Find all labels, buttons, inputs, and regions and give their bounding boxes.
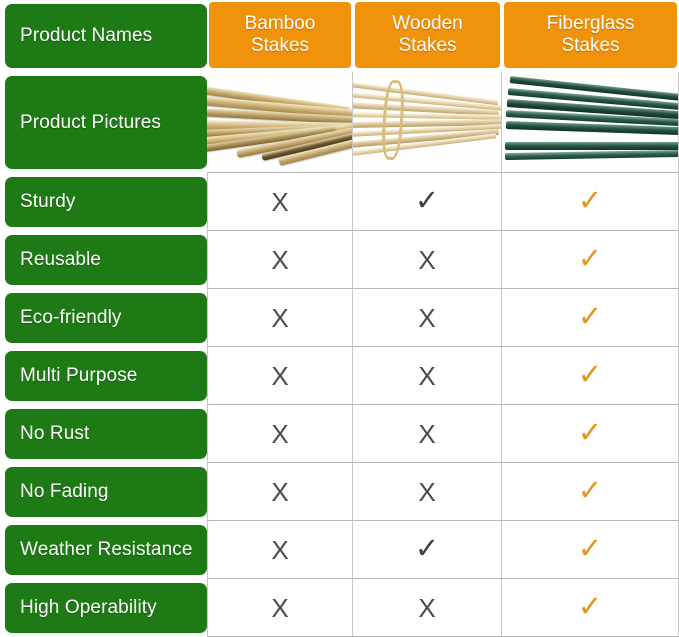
- column-header-wooden-line1: Wooden: [392, 13, 462, 35]
- mark-cell-wooden: ✓: [353, 521, 502, 579]
- mark-cell-bamboo: X: [207, 289, 353, 347]
- cross-icon: X: [271, 537, 288, 563]
- table-grid: Product Names Bamboo Stakes Wooden Stake…: [0, 0, 679, 633]
- check-icon: ✓: [415, 535, 439, 564]
- mark-cell-fiberglass: ✓: [502, 231, 679, 289]
- mark-cell-bamboo: X: [207, 347, 353, 405]
- bamboo-stakes-image: [207, 72, 352, 172]
- feature-row-label-cell: Reusable: [0, 231, 207, 289]
- check-icon: ✓: [415, 187, 439, 216]
- picture-row-label-cell: Product Pictures: [0, 72, 207, 173]
- column-header-fiberglass-pill: Fiberglass Stakes: [504, 2, 677, 68]
- feature-row-label-cell: Sturdy: [0, 173, 207, 231]
- check-icon: ✓: [578, 419, 602, 448]
- mark-cell-fiberglass: ✓: [502, 289, 679, 347]
- feature-row-label: No Rust: [5, 409, 207, 459]
- column-header-bamboo-line2: Stakes: [251, 35, 309, 57]
- column-header-bamboo: Bamboo Stakes: [207, 0, 353, 72]
- mark-cell-bamboo: X: [207, 231, 353, 289]
- check-icon: ✓: [578, 187, 602, 216]
- header-row-label: Product Names: [5, 4, 207, 68]
- mark-cell-fiberglass: ✓: [502, 405, 679, 463]
- cross-icon: X: [271, 363, 288, 389]
- fiberglass-stakes-image: [502, 72, 678, 172]
- cross-icon: X: [418, 421, 435, 447]
- feature-row-label: Reusable: [5, 235, 207, 285]
- cross-icon: X: [418, 247, 435, 273]
- mark-cell-fiberglass: ✓: [502, 521, 679, 579]
- cross-icon: X: [418, 363, 435, 389]
- mark-cell-bamboo: X: [207, 463, 353, 521]
- mark-cell-wooden: X: [353, 289, 502, 347]
- check-icon: ✓: [578, 245, 602, 274]
- column-header-bamboo-line1: Bamboo: [245, 13, 316, 35]
- column-header-wooden-line2: Stakes: [398, 35, 456, 57]
- mark-cell-bamboo: X: [207, 173, 353, 231]
- cross-icon: X: [271, 421, 288, 447]
- feature-row-label: Weather Resistance: [5, 525, 207, 575]
- mark-cell-bamboo: X: [207, 579, 353, 637]
- feature-row-label-cell: Eco-friendly: [0, 289, 207, 347]
- mark-cell-bamboo: X: [207, 405, 353, 463]
- cross-icon: X: [418, 305, 435, 331]
- column-header-bamboo-pill: Bamboo Stakes: [209, 2, 351, 68]
- feature-row-label: Eco-friendly: [5, 293, 207, 343]
- picture-row-label: Product Pictures: [5, 76, 207, 169]
- feature-row-label-cell: Weather Resistance: [0, 521, 207, 579]
- mark-cell-fiberglass: ✓: [502, 579, 679, 637]
- mark-cell-bamboo: X: [207, 521, 353, 579]
- mark-cell-wooden: X: [353, 579, 502, 637]
- cross-icon: X: [271, 247, 288, 273]
- check-icon: ✓: [578, 477, 602, 506]
- feature-row-label-cell: No Fading: [0, 463, 207, 521]
- mark-cell-wooden: ✓: [353, 173, 502, 231]
- mark-cell-fiberglass: ✓: [502, 347, 679, 405]
- feature-row-label: Sturdy: [5, 177, 207, 227]
- mark-cell-fiberglass: ✓: [502, 463, 679, 521]
- cross-icon: X: [271, 595, 288, 621]
- column-header-fiberglass-line1: Fiberglass: [547, 13, 635, 35]
- cross-icon: X: [271, 305, 288, 331]
- feature-row-label: No Fading: [5, 467, 207, 517]
- check-icon: ✓: [578, 593, 602, 622]
- mark-cell-wooden: X: [353, 231, 502, 289]
- cross-icon: X: [271, 189, 288, 215]
- column-header-wooden-pill: Wooden Stakes: [355, 2, 500, 68]
- cross-icon: X: [271, 479, 288, 505]
- mark-cell-fiberglass: ✓: [502, 173, 679, 231]
- mark-cell-wooden: X: [353, 405, 502, 463]
- mark-cell-wooden: X: [353, 347, 502, 405]
- product-picture-fiberglass: [502, 72, 679, 173]
- feature-row-label-cell: High Operability: [0, 579, 207, 637]
- product-picture-bamboo: [207, 72, 353, 173]
- product-comparison-table: Product Names Bamboo Stakes Wooden Stake…: [0, 0, 679, 633]
- feature-row-label: High Operability: [5, 583, 207, 633]
- wooden-stakes-image: [353, 72, 501, 172]
- mark-cell-wooden: X: [353, 463, 502, 521]
- header-row-label-cell: Product Names: [0, 0, 207, 72]
- column-header-fiberglass: Fiberglass Stakes: [502, 0, 679, 72]
- cross-icon: X: [418, 479, 435, 505]
- product-picture-wooden: [353, 72, 502, 173]
- feature-row-label-cell: No Rust: [0, 405, 207, 463]
- check-icon: ✓: [578, 535, 602, 564]
- feature-row-label: Multi Purpose: [5, 351, 207, 401]
- column-header-fiberglass-line2: Stakes: [561, 35, 619, 57]
- cross-icon: X: [418, 595, 435, 621]
- feature-row-label-cell: Multi Purpose: [0, 347, 207, 405]
- column-header-wooden: Wooden Stakes: [353, 0, 502, 72]
- check-icon: ✓: [578, 303, 602, 332]
- check-icon: ✓: [578, 361, 602, 390]
